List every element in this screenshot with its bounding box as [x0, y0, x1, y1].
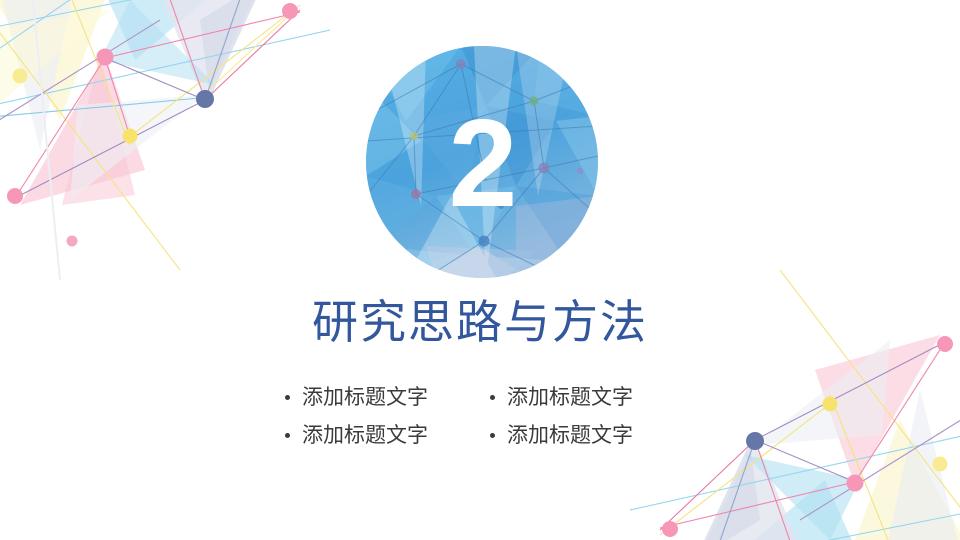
node-pink: [662, 521, 678, 537]
node-pink: [282, 3, 298, 19]
node-yellow: [933, 457, 948, 472]
node-yellow: [123, 129, 138, 144]
list-item-label: 添加标题文字: [507, 382, 633, 412]
bullet-dot-icon: [490, 433, 495, 438]
node-yellow: [823, 397, 838, 412]
list-item[interactable]: 添加标题文字: [490, 382, 685, 412]
section-number-badge: 2: [366, 46, 598, 278]
node-pink: [97, 49, 114, 66]
page-title: 研究思路与方法: [0, 294, 960, 350]
presentation-slide: 2 研究思路与方法 添加标题文字 添加标题文字 添加标题文字 添加标题文字: [0, 0, 960, 540]
bullet-dot-icon: [285, 433, 290, 438]
node-navy: [746, 432, 764, 450]
list-item[interactable]: 添加标题文字: [285, 382, 490, 412]
node-pink: [847, 475, 864, 492]
list-item-label: 添加标题文字: [302, 420, 428, 450]
node-yellow: [13, 69, 28, 84]
node-navy: [196, 90, 214, 108]
section-number: 2: [449, 102, 516, 226]
list-item[interactable]: 添加标题文字: [490, 420, 685, 450]
list-item[interactable]: 添加标题文字: [285, 420, 490, 450]
bullet-dot-icon: [285, 395, 290, 400]
list-item-label: 添加标题文字: [302, 382, 428, 412]
bullet-dot-icon: [490, 395, 495, 400]
node-pink-small: [67, 236, 78, 247]
list-item-label: 添加标题文字: [507, 420, 633, 450]
bullet-list: 添加标题文字 添加标题文字 添加标题文字 添加标题文字: [285, 378, 685, 454]
polygon-network-decoration-top-left: [0, 0, 330, 280]
node-pink: [7, 188, 23, 204]
